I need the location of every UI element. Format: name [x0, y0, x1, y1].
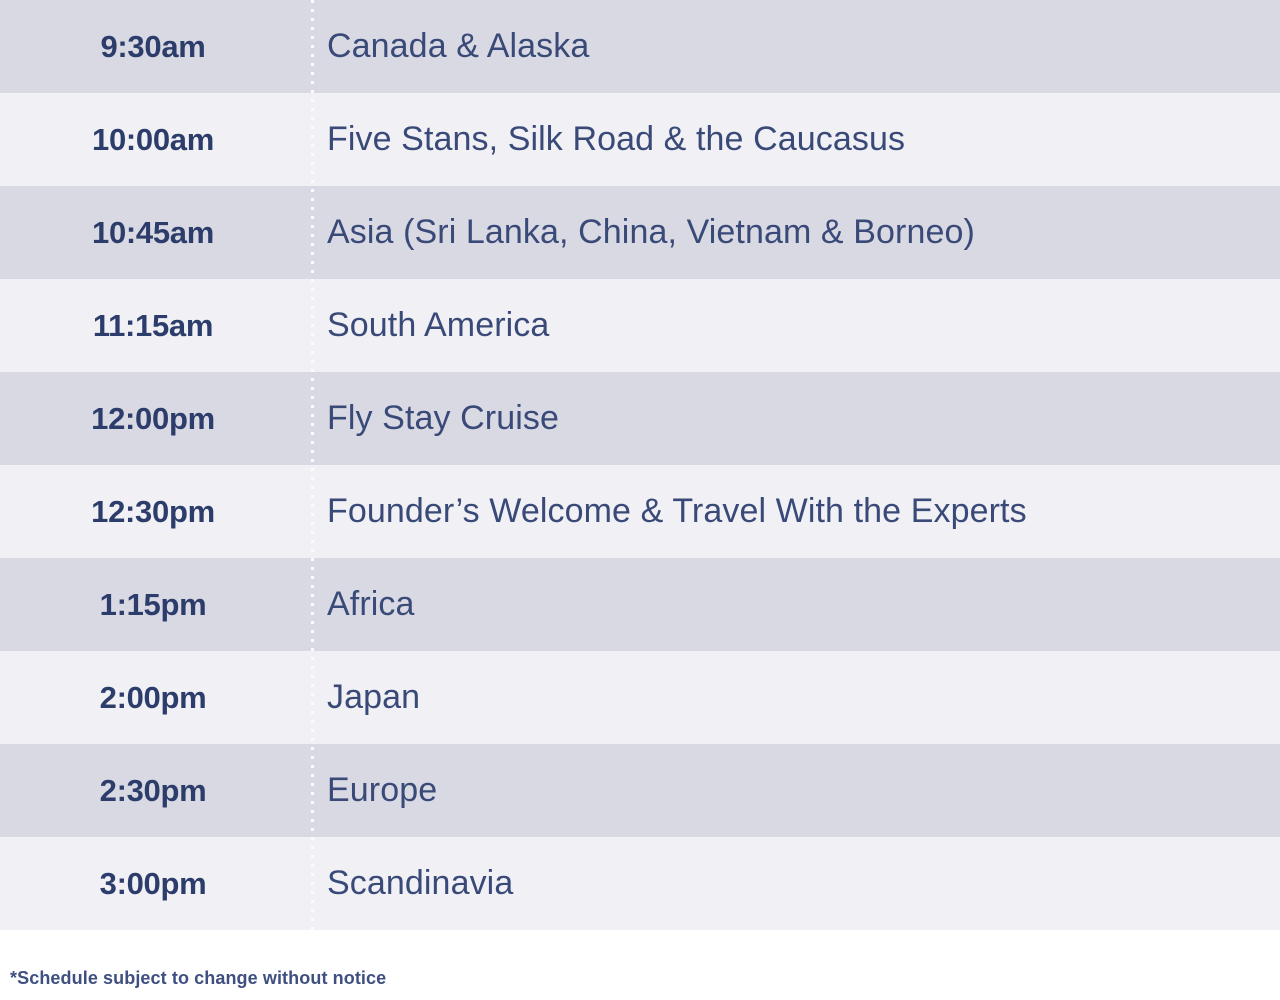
session-title: Africa — [312, 585, 1280, 624]
session-time: 2:30pm — [0, 773, 312, 809]
session-title: Asia (Sri Lanka, China, Vietnam & Borneo… — [312, 213, 1280, 252]
schedule-table: 9:30amCanada & Alaska10:00amFive Stans, … — [0, 0, 1280, 930]
schedule-footnote: *Schedule subject to change without noti… — [10, 968, 386, 989]
session-time: 2:00pm — [0, 680, 312, 716]
session-title: Founder’s Welcome & Travel With the Expe… — [312, 492, 1280, 531]
schedule-row: 12:30pmFounder’s Welcome & Travel With t… — [0, 465, 1280, 558]
session-title: South America — [312, 306, 1280, 345]
schedule-row: 11:15amSouth America — [0, 279, 1280, 372]
schedule-row: 12:00pmFly Stay Cruise — [0, 372, 1280, 465]
schedule-row: 3:00pmScandinavia — [0, 837, 1280, 930]
session-time: 9:30am — [0, 29, 312, 65]
schedule-row: 1:15pmAfrica — [0, 558, 1280, 651]
session-title: Canada & Alaska — [312, 27, 1280, 66]
session-title: Fly Stay Cruise — [312, 399, 1280, 438]
schedule-row: 9:30amCanada & Alaska — [0, 0, 1280, 93]
schedule-row: 10:45amAsia (Sri Lanka, China, Vietnam &… — [0, 186, 1280, 279]
session-time: 1:15pm — [0, 587, 312, 623]
session-time: 12:00pm — [0, 401, 312, 437]
session-time: 11:15am — [0, 308, 312, 344]
session-title: Japan — [312, 678, 1280, 717]
schedule-row: 2:00pmJapan — [0, 651, 1280, 744]
session-time: 10:00am — [0, 122, 312, 158]
session-title: Five Stans, Silk Road & the Caucasus — [312, 120, 1280, 159]
session-time: 10:45am — [0, 215, 312, 251]
session-time: 3:00pm — [0, 866, 312, 902]
schedule-row: 10:00amFive Stans, Silk Road & the Cauca… — [0, 93, 1280, 186]
session-time: 12:30pm — [0, 494, 312, 530]
session-title: Scandinavia — [312, 864, 1280, 903]
schedule-row: 2:30pmEurope — [0, 744, 1280, 837]
session-title: Europe — [312, 771, 1280, 810]
